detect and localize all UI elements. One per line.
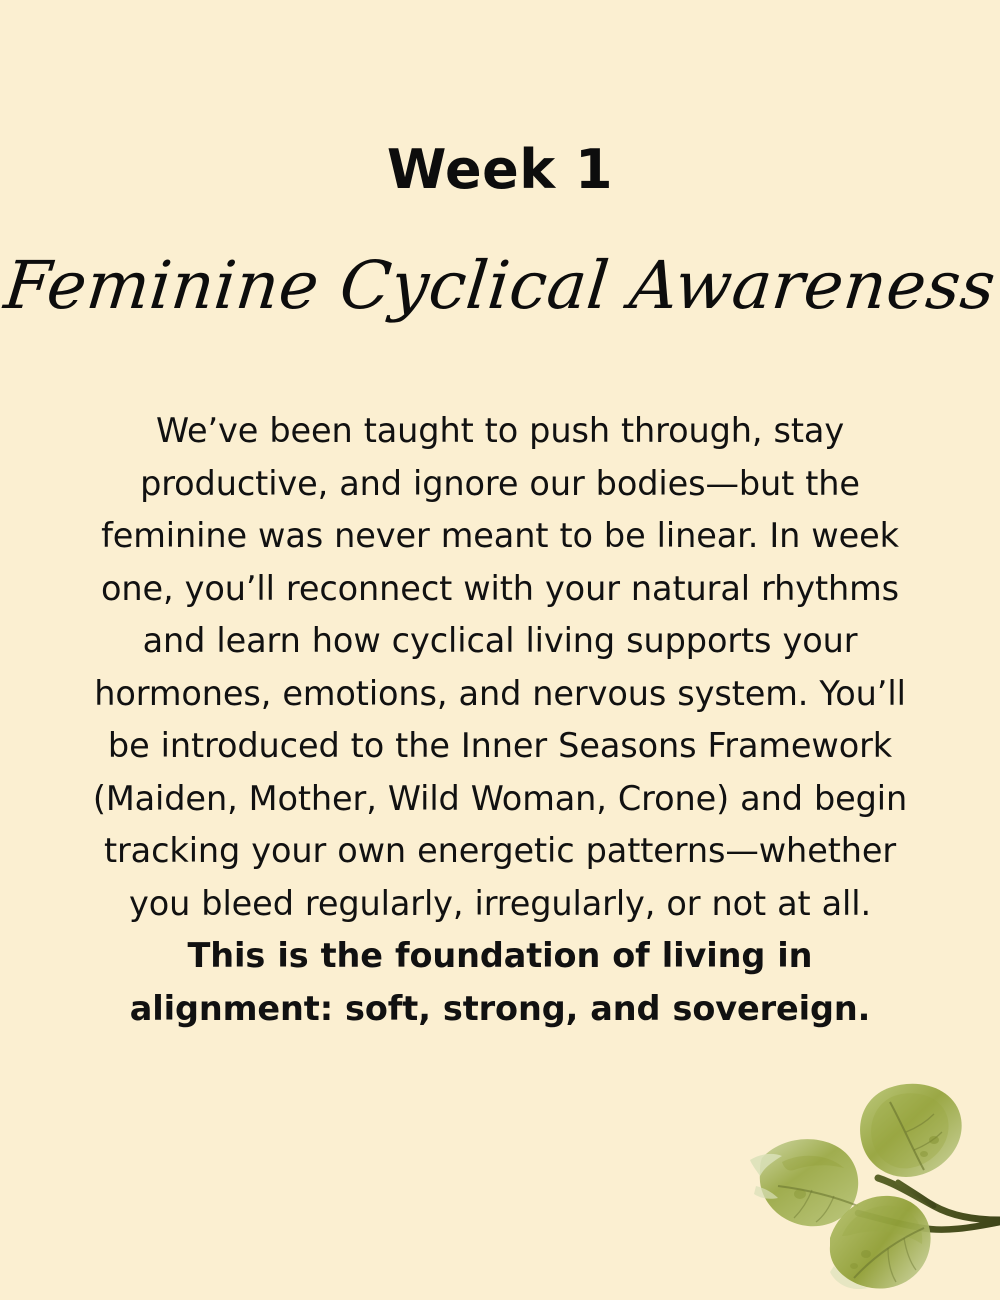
leaf-bottom (830, 1196, 931, 1289)
poster-page: Week 1 Feminine Cyclical Awareness We’ve… (0, 0, 1000, 1300)
body-text-bold: This is the foundation of living in alig… (130, 936, 871, 1028)
leaf-sprig-icon (738, 1070, 1000, 1300)
page-title: Week 1 (0, 140, 1000, 199)
body-paragraph: We’ve been taught to push through, stay … (90, 405, 910, 1035)
stem-branch (898, 1182, 934, 1206)
script-subtitle: Feminine Cyclical Awareness (0, 248, 1000, 324)
stem-upper (878, 1178, 1000, 1220)
leaf-top (860, 1084, 962, 1177)
stem-lower (858, 1213, 1000, 1230)
body-text-regular: We’ve been taught to push through, stay … (93, 411, 907, 923)
botanical-sprig-decoration (738, 1070, 1000, 1300)
leaf-left (750, 1139, 858, 1226)
